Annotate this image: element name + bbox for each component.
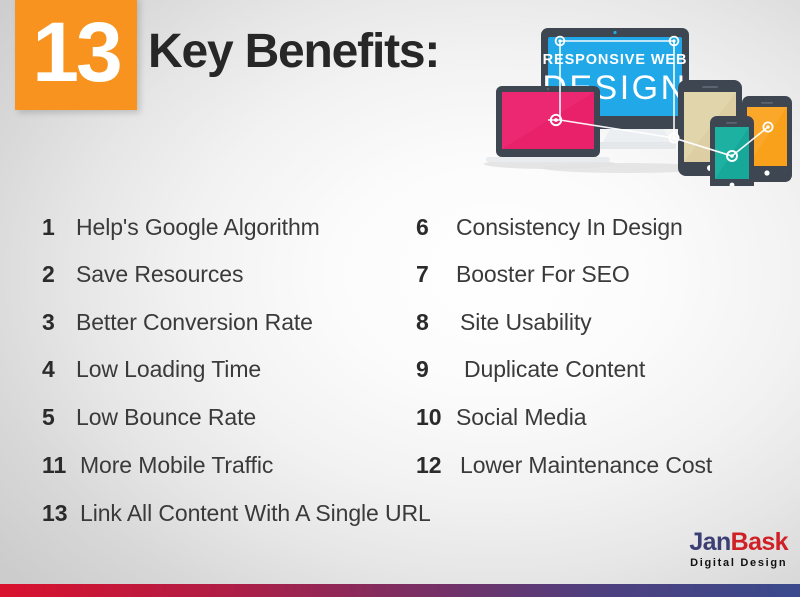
benefit-label: Site Usability bbox=[460, 309, 592, 336]
bottom-gradient-bar bbox=[0, 584, 800, 597]
benefit-label: Help's Google Algorithm bbox=[76, 214, 320, 241]
logo-jan-text: Jan bbox=[689, 528, 730, 556]
benefit-item-4: 4 Low Loading Time bbox=[42, 356, 261, 383]
benefit-number: 7 bbox=[416, 261, 456, 288]
benefit-item-8: 8 Site Usability bbox=[416, 309, 592, 336]
benefit-label: Low Loading Time bbox=[76, 356, 261, 383]
benefit-number: 12 bbox=[416, 452, 460, 479]
benefit-item-7: 7 Booster For SEO bbox=[416, 261, 630, 288]
benefit-number: 9 bbox=[416, 356, 464, 383]
logo-wordmark: JanBask bbox=[689, 530, 788, 555]
benefit-label: Link All Content With A Single URL bbox=[80, 500, 431, 527]
benefit-number: 11 bbox=[42, 452, 80, 479]
benefits-list: 1 Help's Google Algorithm 2 Save Resourc… bbox=[0, 196, 800, 542]
devices-illustration: RESPONSIVE WEB DESIGN bbox=[478, 8, 800, 186]
benefit-number: 13 bbox=[42, 500, 80, 527]
benefit-label: Social Media bbox=[456, 404, 586, 431]
benefit-number: 2 bbox=[42, 261, 76, 288]
benefit-item-13: 13 Link All Content With A Single URL bbox=[42, 500, 431, 527]
benefit-label: More Mobile Traffic bbox=[80, 452, 273, 479]
benefit-number: 6 bbox=[416, 214, 456, 241]
benefit-label: Save Resources bbox=[76, 261, 243, 288]
benefit-number: 4 bbox=[42, 356, 76, 383]
laptop bbox=[486, 86, 610, 162]
benefit-number: 1 bbox=[42, 214, 76, 241]
benefit-item-6: 6 Consistency In Design bbox=[416, 214, 683, 241]
benefit-item-3: 3 Better Conversion Rate bbox=[42, 309, 313, 336]
benefit-label: Duplicate Content bbox=[464, 356, 645, 383]
logo-bask-text: Bask bbox=[731, 528, 788, 556]
benefit-label: Consistency In Design bbox=[456, 214, 683, 241]
benefit-label: Low Bounce Rate bbox=[76, 404, 256, 431]
benefit-label: Lower Maintenance Cost bbox=[460, 452, 712, 479]
benefit-item-9: 9 Duplicate Content bbox=[416, 356, 645, 383]
benefit-label: Booster For SEO bbox=[456, 261, 630, 288]
benefit-item-11: 11 More Mobile Traffic bbox=[42, 452, 273, 479]
benefit-number: 8 bbox=[416, 309, 460, 336]
monitor-headline-line1: RESPONSIVE WEB bbox=[543, 52, 688, 68]
benefit-item-5: 5 Low Bounce Rate bbox=[42, 404, 256, 431]
benefit-item-1: 1 Help's Google Algorithm bbox=[42, 214, 320, 241]
benefit-number: 5 bbox=[42, 404, 76, 431]
benefit-item-10: 10 Social Media bbox=[416, 404, 586, 431]
benefit-label: Better Conversion Rate bbox=[76, 309, 313, 336]
number-badge: 13 bbox=[15, 0, 137, 110]
page-title: Key Benefits: bbox=[148, 24, 439, 79]
benefit-item-2: 2 Save Resources bbox=[42, 261, 243, 288]
benefit-item-12: 12 Lower Maintenance Cost bbox=[416, 452, 712, 479]
benefit-number: 3 bbox=[42, 309, 76, 336]
badge-number-label: 13 bbox=[32, 10, 119, 94]
logo-tagline: Digital Design bbox=[689, 558, 788, 569]
janbask-logo: JanBask Digital Design bbox=[689, 530, 788, 569]
infographic-canvas: 13 Key Benefits: RESPONSIVE WEB DESIGN bbox=[0, 0, 800, 597]
benefit-number: 10 bbox=[416, 404, 456, 431]
